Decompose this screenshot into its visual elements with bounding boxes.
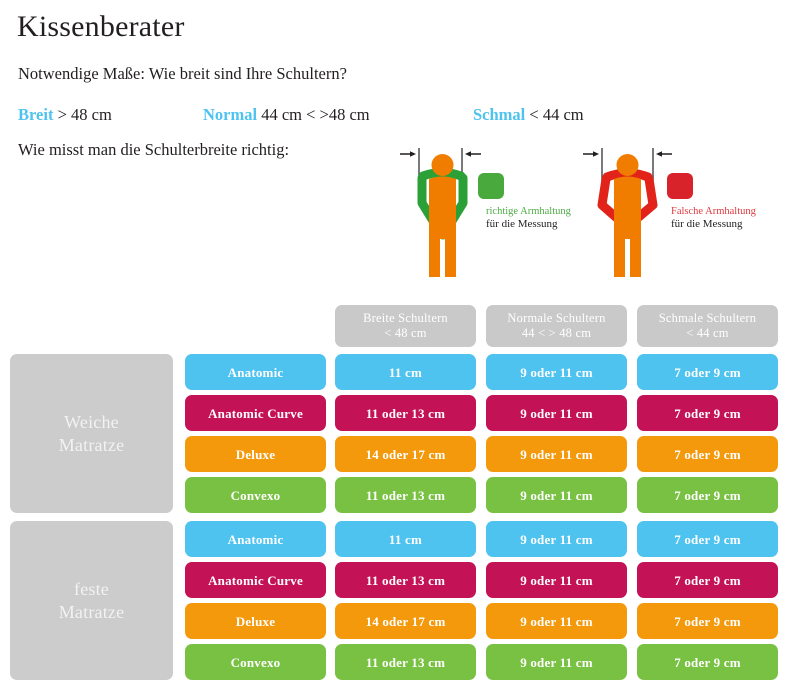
value-cell: 11 oder 13 cm <box>335 477 476 513</box>
value-cell: 7 oder 9 cm <box>637 354 778 390</box>
value-cell: 9 oder 11 cm <box>486 436 627 472</box>
value-cell: 7 oder 9 cm <box>637 603 778 639</box>
value-cell: 7 oder 9 cm <box>637 521 778 557</box>
value-cell: 11 cm <box>335 354 476 390</box>
value-cell: 11 cm <box>335 521 476 557</box>
column-header-1: Breite Schultern< 48 cm <box>335 305 476 347</box>
value-label: 14 oder 17 cm <box>366 447 446 462</box>
column-header-line2: < 48 cm <box>363 326 448 341</box>
value-label: 9 oder 11 cm <box>520 532 593 547</box>
howto-label: Wie misst man die Schulterbreite richtig… <box>18 140 289 160</box>
value-label: 7 oder 9 cm <box>674 655 741 670</box>
legend-key-breit: Breit <box>18 105 53 124</box>
value-cell: 7 oder 9 cm <box>637 395 778 431</box>
value-cell: 11 oder 13 cm <box>335 562 476 598</box>
value-label: 11 cm <box>389 532 422 547</box>
product-cell: Anatomic Curve <box>185 395 326 431</box>
row-group-2: festeMatratze <box>10 521 173 680</box>
value-cell: 9 oder 11 cm <box>486 644 627 680</box>
value-label: 9 oder 11 cm <box>520 614 593 629</box>
product-label: Anatomic <box>228 365 284 380</box>
row-group-label-line2: Matratze <box>59 434 125 457</box>
product-label: Anatomic Curve <box>208 573 303 588</box>
value-cell: 7 oder 9 cm <box>637 644 778 680</box>
value-label: 11 cm <box>389 365 422 380</box>
pillow-size-matrix: Breite Schultern< 48 cmNormale Schultern… <box>10 305 782 689</box>
value-cell: 11 oder 13 cm <box>335 644 476 680</box>
column-header-line2: 44 < > 48 cm <box>507 326 605 341</box>
figure-correct-posture: richtige Armhaltung für die Messung <box>390 143 585 283</box>
value-label: 7 oder 9 cm <box>674 532 741 547</box>
value-cell: 9 oder 11 cm <box>486 477 627 513</box>
legend-key-schmal: Schmal <box>473 105 525 124</box>
value-cell: 9 oder 11 cm <box>486 395 627 431</box>
value-label: 7 oder 9 cm <box>674 406 741 421</box>
value-label: 11 oder 13 cm <box>366 488 445 503</box>
legend-item-breit: Breit > 48 cm <box>18 104 112 126</box>
product-label: Deluxe <box>236 614 275 629</box>
product-cell: Deluxe <box>185 436 326 472</box>
value-cell: 14 oder 17 cm <box>335 603 476 639</box>
legend-item-schmal: Schmal < 44 cm <box>473 104 584 126</box>
product-cell: Convexo <box>185 477 326 513</box>
product-label: Deluxe <box>236 447 275 462</box>
product-label: Convexo <box>231 488 281 503</box>
value-label: 14 oder 17 cm <box>366 614 446 629</box>
legend-key-normal: Normal <box>203 105 257 124</box>
value-cell: 9 oder 11 cm <box>486 354 627 390</box>
value-cell: 9 oder 11 cm <box>486 562 627 598</box>
product-cell: Anatomic <box>185 521 326 557</box>
value-label: 9 oder 11 cm <box>520 406 593 421</box>
product-cell: Anatomic Curve <box>185 562 326 598</box>
legend-value-normal: 44 cm < >48 cm <box>261 105 369 124</box>
value-cell: 11 oder 13 cm <box>335 395 476 431</box>
value-cell: 9 oder 11 cm <box>486 603 627 639</box>
product-label: Anatomic Curve <box>208 406 303 421</box>
measurement-illustration: richtige Armhaltung für die Messung Fals… <box>385 143 785 283</box>
row-group-label-line1: feste <box>59 578 125 601</box>
legend-value-schmal: < 44 cm <box>529 105 583 124</box>
value-label: 9 oder 11 cm <box>520 488 593 503</box>
column-header-line1: Schmale Schultern <box>659 311 756 326</box>
row-group-1: WeicheMatratze <box>10 354 173 513</box>
product-label: Convexo <box>231 655 281 670</box>
value-label: 7 oder 9 cm <box>674 365 741 380</box>
value-label: 7 oder 9 cm <box>674 447 741 462</box>
row-group-label-line2: Matratze <box>59 601 125 624</box>
column-header-3: Schmale Schultern< 44 cm <box>637 305 778 347</box>
figure-wrong-posture: Falsche Armhaltung für die Messung <box>575 143 770 283</box>
page-subtitle: Notwendige Maße: Wie breit sind Ihre Sch… <box>18 64 347 84</box>
column-header-line1: Breite Schultern <box>363 311 448 326</box>
value-label: 11 oder 13 cm <box>366 655 445 670</box>
value-label: 9 oder 11 cm <box>520 655 593 670</box>
page-title: Kissenberater <box>17 10 185 44</box>
value-label: 7 oder 9 cm <box>674 614 741 629</box>
value-cell: 14 oder 17 cm <box>335 436 476 472</box>
value-cell: 7 oder 9 cm <box>637 562 778 598</box>
wrong-caption-line1: Falsche Armhaltung <box>671 205 781 218</box>
value-label: 9 oder 11 cm <box>520 365 593 380</box>
value-cell: 9 oder 11 cm <box>486 521 627 557</box>
value-label: 7 oder 9 cm <box>674 488 741 503</box>
value-label: 9 oder 11 cm <box>520 447 593 462</box>
column-header-line2: < 44 cm <box>659 326 756 341</box>
size-legend: Breit > 48 cm Normal 44 cm < >48 cm Schm… <box>18 104 778 126</box>
wrong-caption-line2: für die Messung <box>671 218 781 231</box>
column-header-line1: Normale Schultern <box>507 311 605 326</box>
value-cell: 7 oder 9 cm <box>637 477 778 513</box>
legend-item-normal: Normal 44 cm < >48 cm <box>203 104 370 126</box>
product-label: Anatomic <box>228 532 284 547</box>
value-label: 11 oder 13 cm <box>366 406 445 421</box>
row-group-label-line1: Weiche <box>59 411 125 434</box>
product-cell: Anatomic <box>185 354 326 390</box>
value-label: 7 oder 9 cm <box>674 573 741 588</box>
value-label: 11 oder 13 cm <box>366 573 445 588</box>
wrong-posture-caption: Falsche Armhaltung für die Messung <box>671 205 781 231</box>
product-cell: Convexo <box>185 644 326 680</box>
value-label: 9 oder 11 cm <box>520 573 593 588</box>
product-cell: Deluxe <box>185 603 326 639</box>
legend-value-breit: > 48 cm <box>58 105 112 124</box>
value-cell: 7 oder 9 cm <box>637 436 778 472</box>
column-header-2: Normale Schultern44 < > 48 cm <box>486 305 627 347</box>
